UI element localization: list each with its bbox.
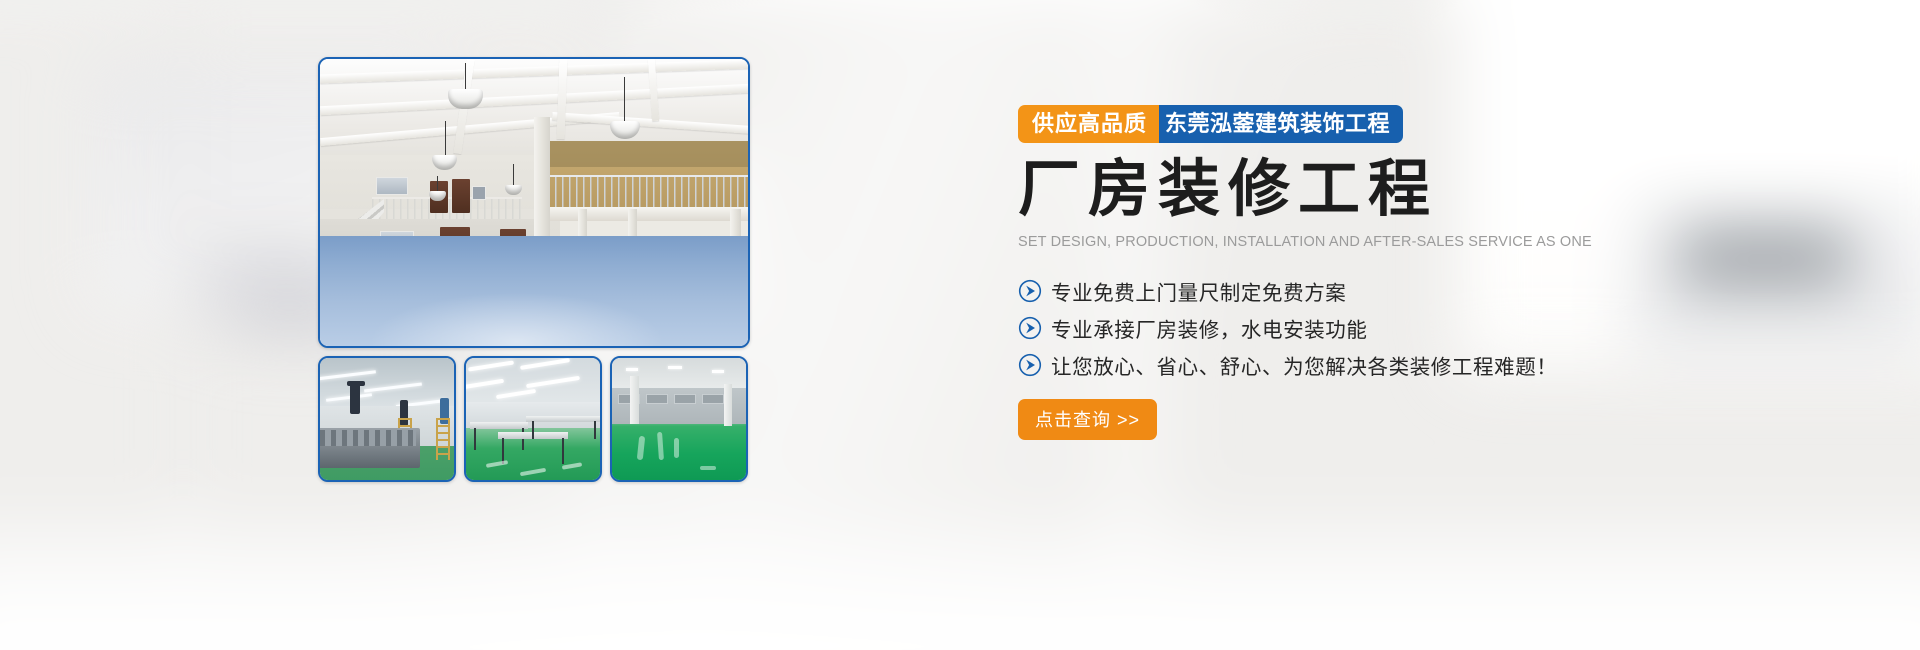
thumb-table-leg — [562, 438, 564, 464]
thumb-light-tube — [468, 360, 514, 371]
photo-lamp-cord — [465, 63, 466, 91]
main-photo-frame[interactable] — [318, 57, 750, 348]
banner-content: 供应高品质 东莞泓蓥建筑装饰工程 厂房装修工程 SET DESIGN, PROD… — [1018, 105, 1738, 440]
thumb-table-leg — [594, 421, 596, 439]
thumb-floor-reflection — [486, 460, 508, 468]
photo-window — [472, 186, 486, 200]
feature-list: 专业免费上门量尺制定免费方案 专业承接厂房装修，水电安装功能 让您放心、省心、舒… — [1018, 272, 1738, 383]
company-badge: 供应高品质 东莞泓蓥建筑装饰工程 — [1018, 105, 1403, 143]
thumb-light-tube — [520, 358, 570, 370]
thumb-table-leg — [474, 428, 476, 450]
thumb-column — [724, 384, 732, 426]
thumb-floor-reflection — [674, 438, 679, 458]
arrow-circle-right-icon — [1018, 279, 1042, 303]
badge-company-name: 东莞泓蓥建筑装饰工程 — [1153, 105, 1403, 143]
photo-mezzanine-slab — [542, 207, 750, 221]
thumbnail-1[interactable] — [318, 356, 456, 482]
thumb-column — [630, 376, 639, 424]
thumb-floor-reflection — [562, 462, 582, 469]
thumbnail-1-image — [320, 358, 454, 480]
thumb-ceiling-light — [668, 366, 682, 369]
thumb-ladder — [436, 418, 450, 460]
photo-lamp-cord — [624, 77, 625, 123]
thumb-wall-panel — [674, 394, 696, 404]
thumb-light-tube — [496, 389, 536, 399]
feature-text: 让您放心、省心、舒心、为您解决各类装修工程难题！ — [1051, 350, 1557, 380]
gallery — [318, 57, 750, 482]
photo-floor-reflection — [320, 236, 748, 346]
badge-quality-label: 供应高品质 — [1018, 105, 1159, 143]
list-item: 让您放心、省心、舒心、为您解决各类装修工程难题！ — [1018, 346, 1738, 383]
page-title: 厂房装修工程 — [1018, 157, 1738, 222]
photo-window — [376, 177, 408, 195]
thumb-table-leg — [532, 421, 534, 439]
thumb-light-tube — [526, 376, 580, 388]
main-photo-image — [320, 59, 748, 346]
thumbnail-2-image — [466, 358, 600, 480]
photo-lamp-cord — [445, 121, 446, 157]
thumb-wall-panel — [646, 394, 668, 404]
inquiry-button[interactable]: 点击查询 >> — [1018, 399, 1157, 440]
list-item: 专业免费上门量尺制定免费方案 — [1018, 272, 1738, 309]
arrow-circle-right-icon — [1018, 353, 1042, 377]
thumb-ceiling-light — [712, 370, 724, 373]
thumb-wall-panel — [702, 394, 724, 404]
thumbnail-3-image — [612, 358, 746, 480]
photo-mezzanine-shadow — [548, 141, 750, 167]
thumb-ceiling-light — [626, 368, 638, 371]
photo-mezzanine-railing — [548, 175, 750, 211]
thumb-light-tube — [464, 379, 504, 390]
thumb-machinery-top — [320, 430, 416, 446]
thumb-worker-arm — [347, 381, 365, 386]
feature-text: 专业承接厂房装修，水电安装功能 — [1051, 313, 1368, 343]
thumbnail-row — [318, 356, 750, 482]
arrow-circle-right-icon — [1018, 316, 1042, 340]
thumb-worktable — [470, 422, 528, 429]
photo-door — [452, 179, 470, 213]
thumbnail-2[interactable] — [464, 356, 602, 482]
thumb-worker — [350, 382, 360, 414]
page-subtitle: SET DESIGN, PRODUCTION, INSTALLATION AND… — [1018, 234, 1738, 250]
list-item: 专业承接厂房装修，水电安装功能 — [1018, 309, 1738, 346]
thumb-floor-reflection — [520, 468, 546, 476]
thumb-floor-reflection — [637, 436, 645, 460]
thumbnail-3[interactable] — [610, 356, 748, 482]
thumb-floor-reflection — [700, 466, 716, 470]
thumb-worktable — [526, 416, 602, 422]
feature-text: 专业免费上门量尺制定免费方案 — [1051, 276, 1346, 306]
thumb-floor-reflection — [657, 432, 664, 460]
